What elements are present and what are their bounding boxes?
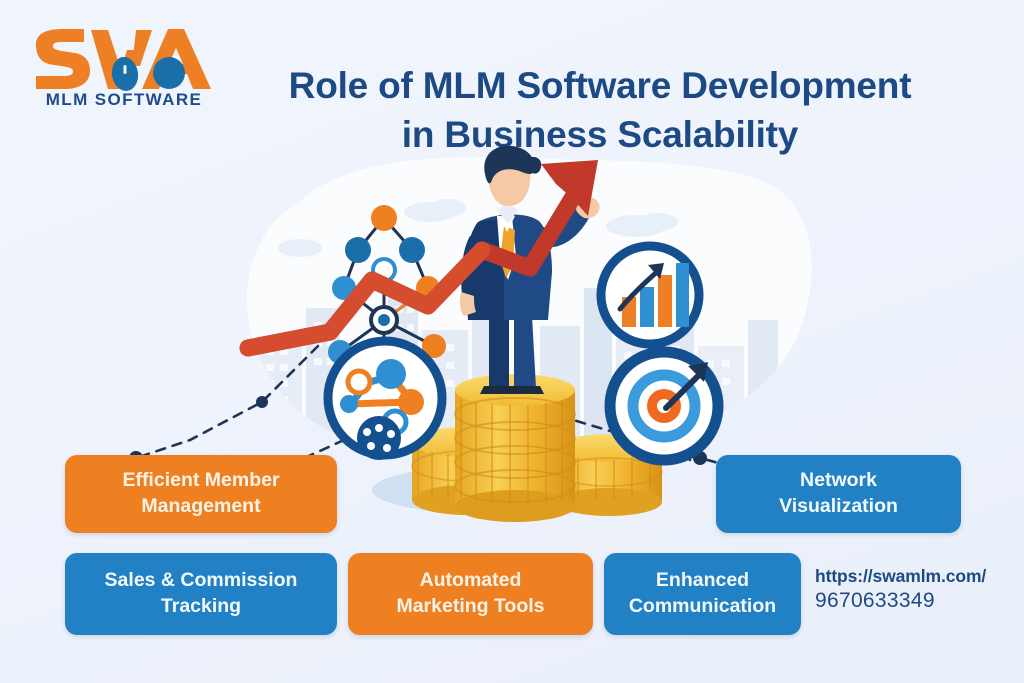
feature-label-line-1: Enhanced bbox=[656, 569, 749, 591]
feature-label: Enhanced Communication bbox=[629, 568, 776, 619]
target-bullseye-icon bbox=[610, 352, 718, 460]
feature-label-line-1: Network bbox=[800, 469, 877, 491]
node-blue bbox=[399, 237, 425, 263]
infographic-canvas: MLM SOFTWARE Role of MLM Software Develo… bbox=[0, 0, 1024, 683]
coin-stack-center bbox=[455, 374, 575, 522]
feature-button-network-visualization[interactable]: Network Visualization bbox=[716, 455, 961, 533]
feature-label: Sales & Commission Tracking bbox=[105, 568, 298, 619]
node-orange bbox=[371, 205, 397, 231]
feature-label-line-2: Marketing Tools bbox=[396, 595, 544, 617]
brand-logo[interactable]: MLM SOFTWARE bbox=[28, 26, 214, 122]
feature-label-line-2: Visualization bbox=[779, 495, 898, 517]
contact-block: https://swamlm.com/ 9670633349 bbox=[815, 566, 1015, 613]
feature-label-line-2: Management bbox=[141, 495, 260, 517]
feature-button-efficient-member-management[interactable]: Efficient Member Management bbox=[65, 455, 337, 533]
feature-label-line-1: Automated bbox=[420, 569, 522, 591]
feature-button-automated-marketing-tools[interactable]: Automated Marketing Tools bbox=[348, 553, 593, 635]
feature-label: Automated Marketing Tools bbox=[396, 568, 544, 619]
website-url[interactable]: https://swamlm.com/ bbox=[815, 566, 1015, 587]
feature-label-line-2: Tracking bbox=[161, 595, 241, 617]
network-visualization-icon bbox=[328, 341, 442, 460]
node-blue bbox=[345, 237, 371, 263]
title-line-1: Role of MLM Software Development bbox=[205, 61, 995, 110]
feature-button-enhanced-communication[interactable]: Enhanced Communication bbox=[604, 553, 801, 635]
feature-button-sales-commission-tracking[interactable]: Sales & Commission Tracking bbox=[65, 553, 337, 635]
phone-number[interactable]: 9670633349 bbox=[815, 589, 1015, 613]
swa-logo-icon bbox=[28, 26, 214, 92]
feature-label: Network Visualization bbox=[779, 468, 898, 519]
bar-chart-growth-icon bbox=[601, 246, 699, 344]
logo-wordmark: MLM SOFTWARE bbox=[34, 90, 214, 110]
feature-label-line-1: Efficient Member bbox=[122, 469, 279, 491]
feature-label: Efficient Member Management bbox=[122, 468, 279, 519]
feature-label-line-2: Communication bbox=[629, 595, 776, 617]
feature-label-line-1: Sales & Commission bbox=[105, 569, 298, 591]
